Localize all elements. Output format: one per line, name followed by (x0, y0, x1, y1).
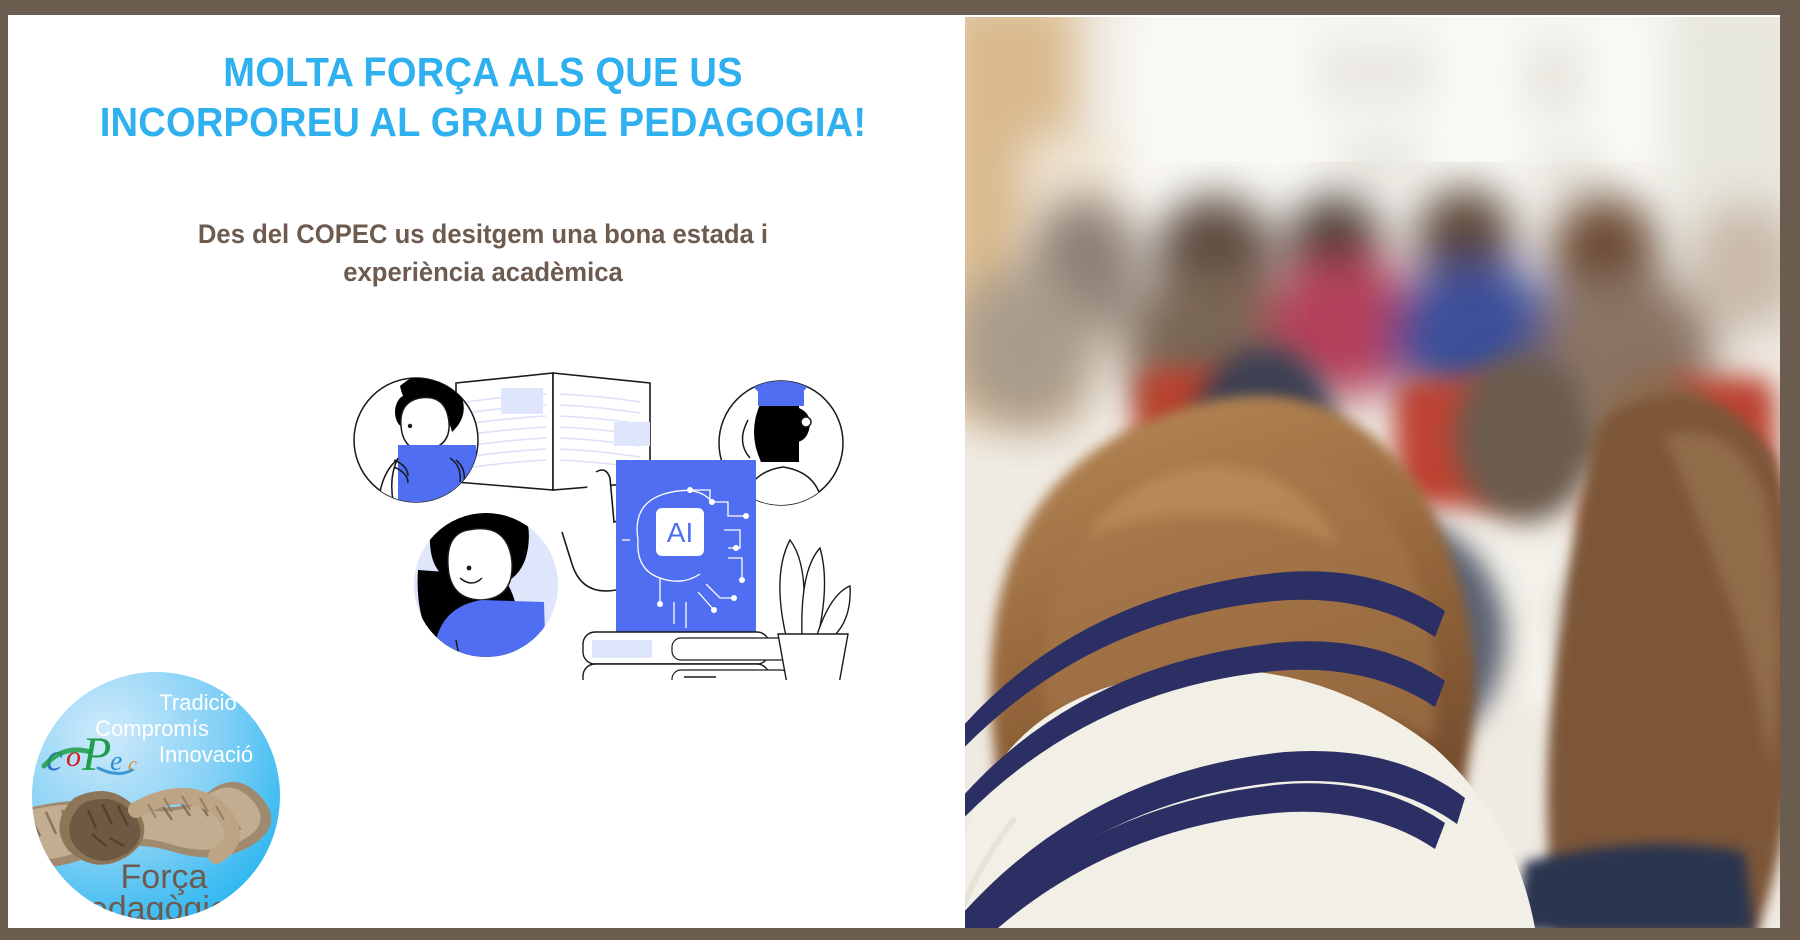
logo-motto-2: Compromís (95, 716, 209, 741)
ai-card-label: AI (667, 517, 693, 548)
classroom-photo (965, 17, 1780, 928)
poster-canvas: MOLTA FORÇA ALS QUE US INCORPOREU AL GRA… (8, 15, 1780, 928)
logo-motto-3: Innovació (159, 742, 253, 767)
copec-logo: Tradició Compromís Innovació c o P e c (30, 670, 282, 922)
potted-plant-icon (778, 540, 850, 680)
book-cover-block (592, 640, 652, 658)
ai-poster-card: AI (616, 460, 756, 632)
headline-line-1: MOLTA FORÇA ALS QUE US (51, 47, 916, 97)
left-content-panel: MOLTA FORÇA ALS QUE US INCORPOREU AL GRA… (8, 15, 965, 928)
poster-frame: MOLTA FORÇA ALS QUE US INCORPOREU AL GRA… (0, 0, 1800, 940)
headline-line-2: INCORPOREU AL GRAU DE PEDAGOGIA! (51, 97, 916, 147)
wordmark-letter-o: o (66, 740, 81, 773)
subtitle: Des del COPEC us desitgem una bona estad… (89, 215, 878, 292)
logo-motto-1: Tradició (159, 690, 236, 715)
book-image-block-right (614, 422, 650, 446)
education-ai-illustration: AI (338, 340, 858, 680)
book-image-block-left (501, 388, 543, 414)
student-pointing-circle (414, 494, 558, 680)
subtitle-line-2: experiència acadèmica (89, 253, 878, 291)
page-title: MOLTA FORÇA ALS QUE US INCORPOREU AL GRA… (51, 47, 916, 148)
subtitle-line-1: Des del COPEC us desitgem una bona estad… (89, 215, 878, 253)
student-reading-circle (354, 373, 478, 515)
logo-tagline-2: Pedagògica (66, 890, 246, 922)
